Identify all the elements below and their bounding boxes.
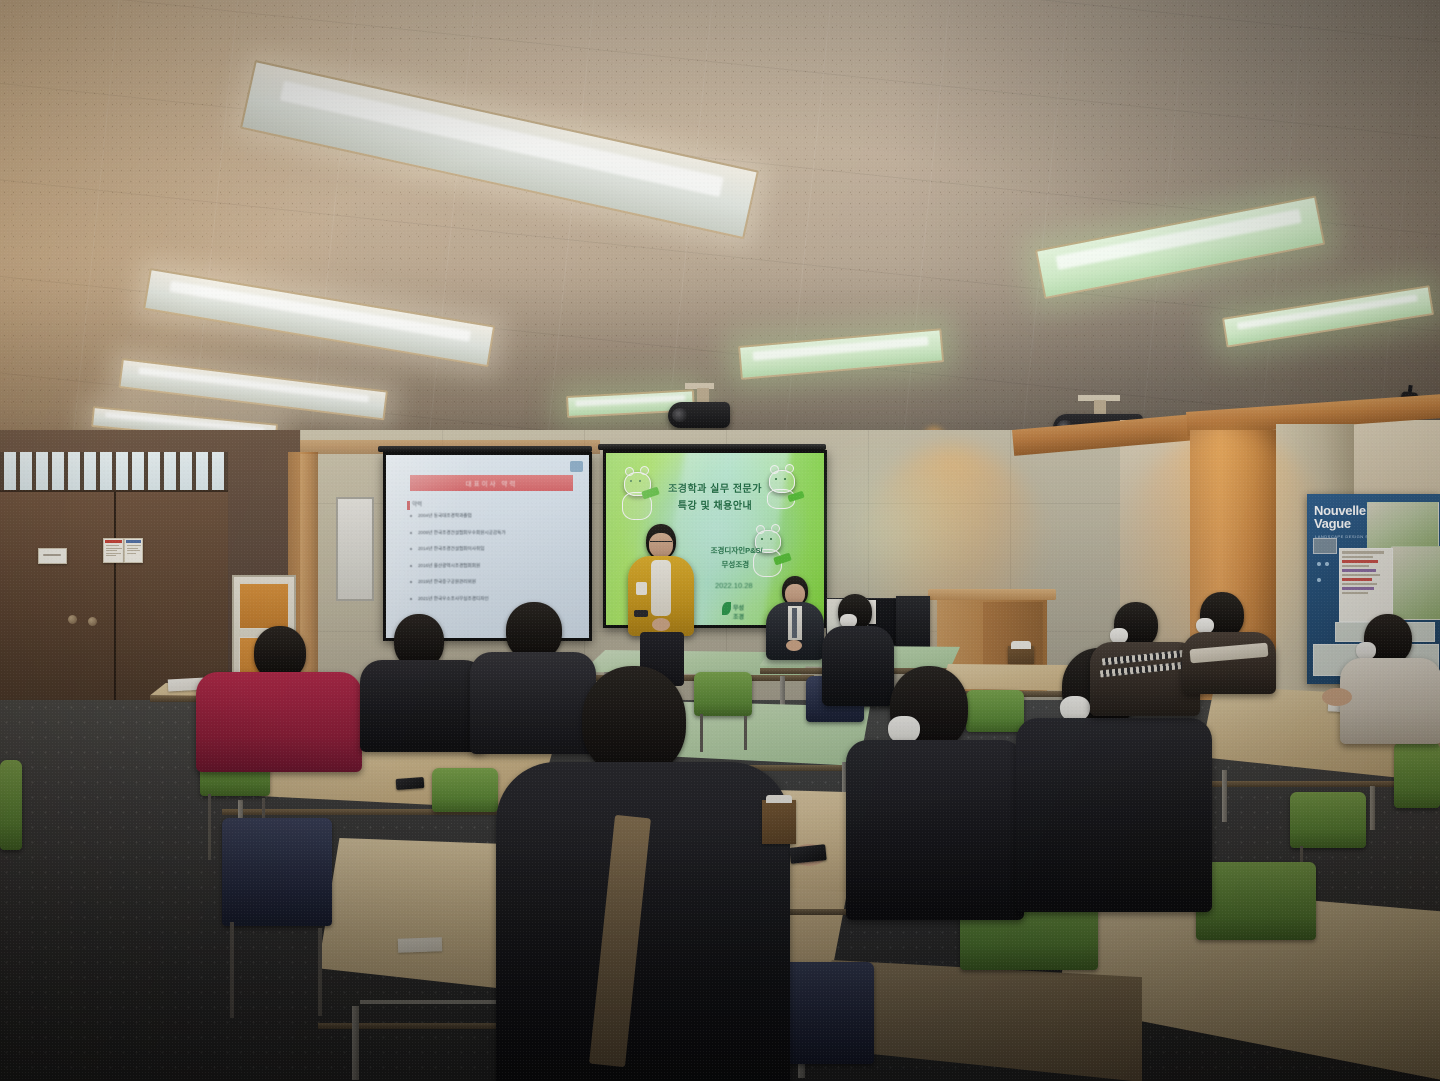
green-stacking-chair[interactable] (432, 768, 498, 812)
torso (496, 762, 790, 1081)
door-notice-right (124, 538, 143, 563)
torso (196, 672, 362, 772)
person-student-front (492, 666, 792, 1081)
chair-leg (230, 922, 234, 1018)
note-text-line (43, 554, 61, 556)
person-student-mask-1 (846, 666, 1026, 916)
hand (652, 618, 670, 631)
transom-window (0, 452, 228, 493)
smartphone (396, 777, 425, 790)
door-notice-left (103, 538, 124, 563)
notice-header (126, 540, 141, 543)
cabinet-panel (239, 583, 289, 629)
snack-box (762, 800, 796, 844)
chair-leg (318, 928, 322, 1016)
lecture-room-photo: 대표이사 약력 약력 2004년 동국대조경학과졸업 2009년 한국조경건설협… (0, 0, 1440, 1081)
torso (360, 660, 486, 752)
glasses-icon (650, 541, 672, 544)
door-knob[interactable] (88, 617, 97, 626)
poster-title-line1: Nouvelle (1314, 504, 1366, 517)
ceiling-projector-front (668, 388, 730, 428)
hand (786, 640, 802, 651)
poster-icon-dot (1317, 562, 1321, 566)
poster-site-plan (1391, 546, 1440, 620)
cardigan-patch (634, 610, 648, 617)
face (649, 533, 673, 558)
green-stacking-chair[interactable] (0, 760, 22, 850)
notice-header (105, 540, 122, 543)
paper-stack (398, 937, 442, 953)
shirt (651, 560, 671, 616)
green-stacking-chair[interactable] (1394, 742, 1440, 808)
projector-lens (672, 408, 688, 422)
hand (1322, 688, 1352, 706)
table-leg (352, 1006, 359, 1080)
handwritten-door-note (38, 548, 67, 564)
cardigan-patch (636, 582, 647, 595)
person-student-cream (1340, 614, 1440, 744)
poster-icon-dot (1317, 578, 1321, 582)
torso (1182, 632, 1276, 694)
torso (1016, 718, 1212, 912)
poster-title: Nouvelle Vague (1314, 504, 1366, 531)
person-student-black-1 (360, 614, 488, 744)
poster-data-sheet (1339, 548, 1393, 622)
poster-thumbnail (1313, 538, 1337, 554)
tissue (766, 795, 792, 803)
torso (1340, 658, 1440, 744)
person-presenter (624, 524, 700, 684)
logo-text: 무성조경 (733, 603, 748, 621)
poster-title-line2: Vague (1314, 517, 1366, 530)
necktie (792, 608, 797, 638)
door-knob[interactable] (68, 615, 77, 624)
green-stacking-chair[interactable] (1290, 792, 1366, 848)
corporate-logo-icon (570, 461, 583, 472)
person-student-maroon (196, 626, 364, 766)
poster-icon-dot (1325, 562, 1329, 566)
window-mullions (0, 452, 228, 490)
wall-whiteboard (336, 497, 374, 601)
head (582, 666, 686, 776)
chair-leg (208, 794, 211, 860)
table-leg (1370, 786, 1375, 830)
poster-site-plan (1367, 502, 1439, 550)
table-leg (1222, 770, 1227, 822)
lectern-top (928, 589, 1056, 600)
navy-stacking-chair[interactable] (222, 818, 332, 926)
person-student-right-1 (1182, 592, 1278, 690)
person-seated-speaker (766, 576, 826, 662)
torso (846, 740, 1024, 920)
